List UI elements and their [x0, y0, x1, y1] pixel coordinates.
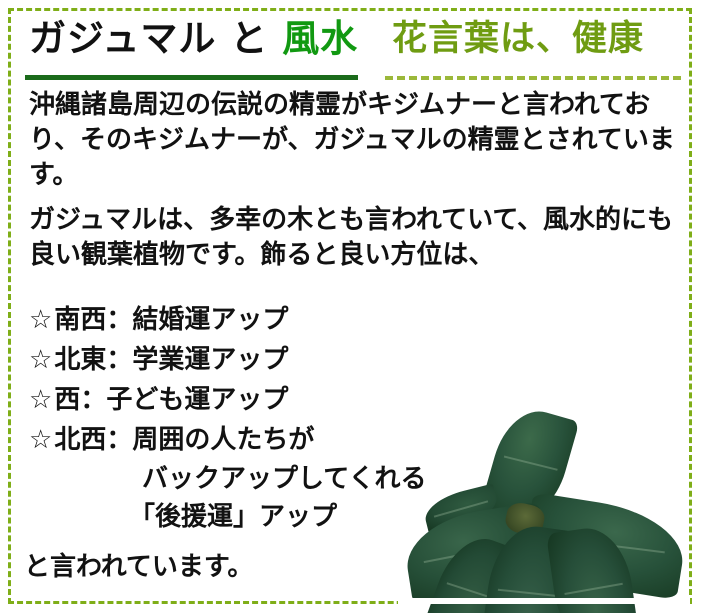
list-item: ☆南西：結婚運アップ [29, 300, 459, 340]
header: ガジュマル と 風水 花言葉は、健康 [0, 10, 702, 82]
star-icon: ☆ [29, 345, 52, 375]
paragraph-legend: 沖縄諸島周辺の伝説の精霊がキジムナーと言われており、そのキジムナーが、ガジュマル… [29, 88, 679, 193]
list-item: ☆北西：周囲の人たちが [29, 420, 459, 460]
star-icon: ☆ [29, 305, 52, 335]
list-item-label: 北西：周囲の人たちが [54, 425, 314, 455]
paragraph-fengshui: ガジュマルは、多幸の木とも言われていて、風水的にも良い観葉植物です。飾ると良い方… [29, 203, 679, 273]
page-title-prefix: ガジュマル と [29, 17, 282, 60]
list-item: ☆西：子ども運アップ [29, 380, 459, 420]
star-icon: ☆ [29, 425, 52, 455]
list-item-label: 南西：結婚運アップ [54, 305, 288, 335]
gajumaru-plant-photo [398, 408, 690, 598]
direction-list: ☆南西：結婚運アップ ☆北東：学業運アップ ☆西：子ども運アップ ☆北西：周囲の… [29, 300, 459, 536]
title-underline [25, 75, 358, 80]
star-icon: ☆ [29, 385, 52, 415]
photo-edge-mask [398, 598, 690, 604]
infographic-page: ガジュマル と 風水 花言葉は、健康 沖縄諸島周辺の伝説の精霊がキジムナーと言わ… [0, 0, 702, 613]
list-item: ☆北東：学業運アップ [29, 340, 459, 380]
subtitle: 花言葉は、健康 [392, 16, 644, 62]
list-item-continuation: 「後援運」アップ [29, 498, 459, 536]
subtitle-dashed-underline [385, 76, 681, 80]
list-item-continuation: バックアップしてくれる [29, 460, 459, 498]
closing-text: と言われています。 [24, 550, 253, 584]
list-item-label: 北東：学業運アップ [54, 345, 288, 375]
list-item-label: 西：子ども運アップ [54, 385, 288, 415]
page-title-accent: 風水 [282, 17, 358, 60]
page-title: ガジュマル と 風水 [29, 16, 358, 62]
